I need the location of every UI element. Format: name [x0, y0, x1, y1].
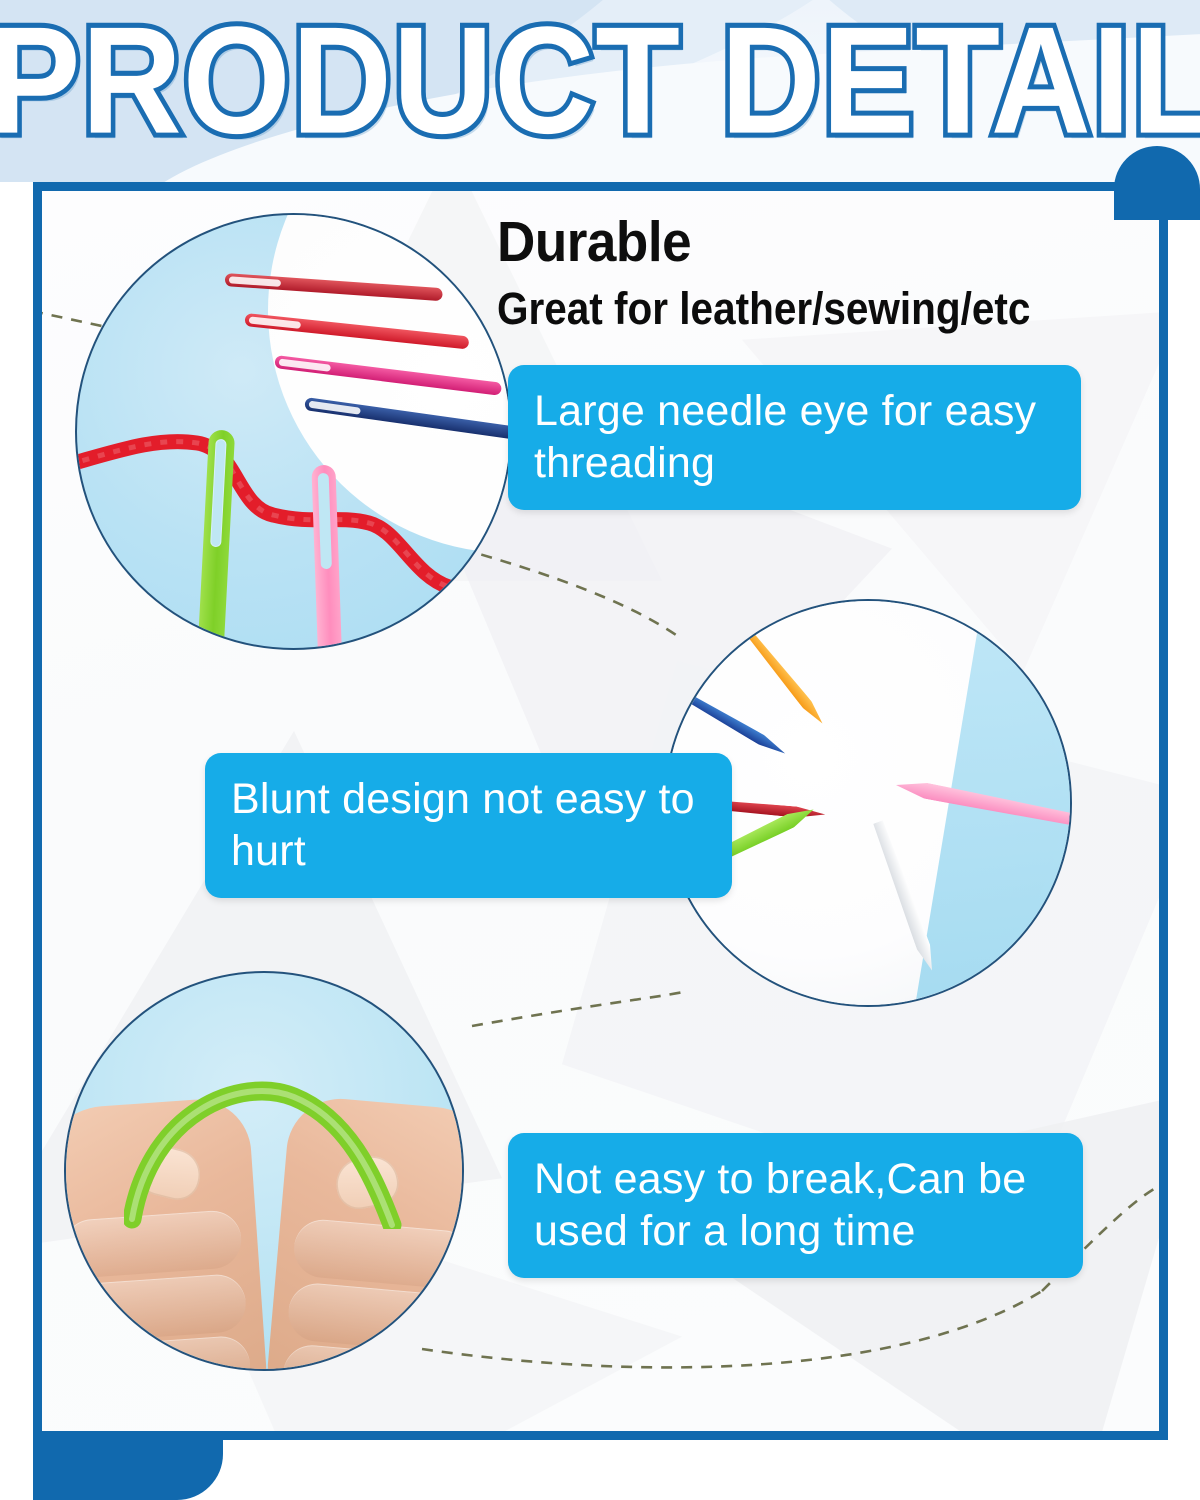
green-plastic-needle-bent	[124, 1069, 414, 1229]
section-subheading-usecases: Great for leather/sewing/etc	[497, 283, 1030, 335]
callout-text: Not easy to break,Can be used for a long…	[534, 1155, 1026, 1255]
callout-large-needle-eye: Large needle eye for easy threading	[508, 365, 1081, 510]
section-heading-durable: Durable	[497, 209, 691, 275]
photo-needle-eyes	[75, 213, 512, 650]
content-canvas: Large needle eye for easy threading Blun…	[42, 191, 1159, 1431]
knuckle-decor	[286, 1281, 464, 1354]
photo-bend-test	[64, 971, 464, 1371]
knuckle-decor	[66, 1273, 248, 1343]
callout-text: Large needle eye for easy threading	[534, 387, 1036, 487]
callout-blunt-design: Blunt design not easy to hurt	[205, 753, 732, 898]
page-title: PRODUCT DETAILS	[0, 2, 1200, 159]
callout-text: Blunt design not easy to hurt	[231, 775, 695, 875]
red-yarn	[77, 215, 512, 650]
callout-not-easy-to-break: Not easy to break,Can be used for a long…	[508, 1133, 1083, 1278]
header-band: PRODUCT DETAILS	[0, 0, 1200, 182]
corner-tab-bottom-left	[33, 1434, 223, 1500]
